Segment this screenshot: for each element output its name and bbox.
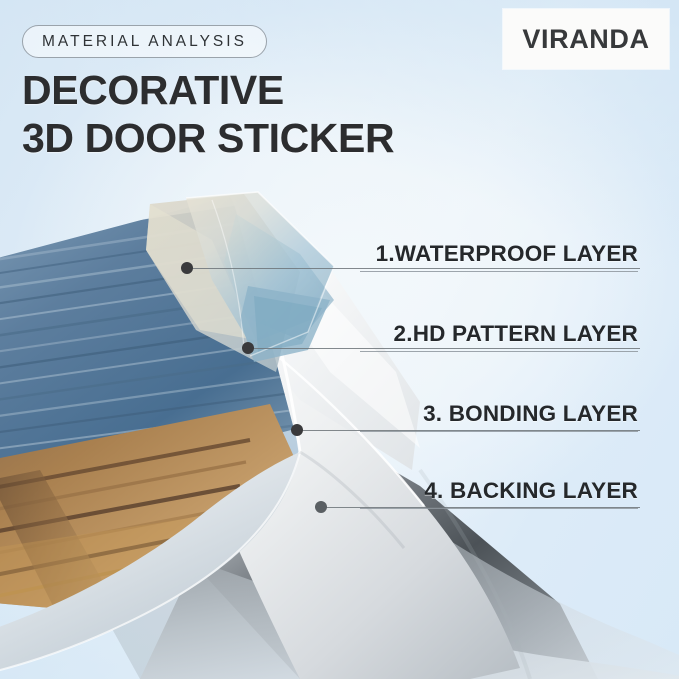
leader-dot-3 [291, 424, 303, 436]
leader-dot-4 [315, 501, 327, 513]
callout-underline [360, 271, 638, 272]
title-line-2: 3D DOOR STICKER [22, 114, 502, 162]
callout-label: 4. BACKING LAYER [360, 478, 638, 504]
eyebrow-label: MATERIAL ANALYSIS [42, 33, 247, 51]
material-analysis-infographic: MATERIAL ANALYSIS DECORATIVE 3D DOOR STI… [0, 0, 679, 679]
leader-line-4 [324, 507, 640, 508]
page-title: DECORATIVE 3D DOOR STICKER [22, 66, 502, 162]
eyebrow-badge: MATERIAL ANALYSIS [22, 25, 267, 58]
callout-bonding-layer: 3. BONDING LAYER [360, 401, 638, 432]
callout-underline [360, 351, 638, 352]
callout-label: 3. BONDING LAYER [360, 401, 638, 427]
title-line-1: DECORATIVE [22, 66, 502, 114]
brand-name: VIRANDA [522, 24, 649, 55]
leader-dot-1 [181, 262, 193, 274]
callout-label: 2.HD PATTERN LAYER [360, 321, 638, 347]
leader-line-2 [251, 348, 640, 349]
callout-backing-layer: 4. BACKING LAYER [360, 478, 638, 509]
leader-line-3 [300, 430, 640, 431]
callout-underline [360, 508, 638, 509]
brand-logo: VIRANDA [503, 9, 669, 69]
callout-label: 1.WATERPROOF LAYER [360, 241, 638, 267]
callout-underline [360, 431, 638, 432]
leader-dot-2 [242, 342, 254, 354]
leader-line-1 [190, 268, 640, 269]
